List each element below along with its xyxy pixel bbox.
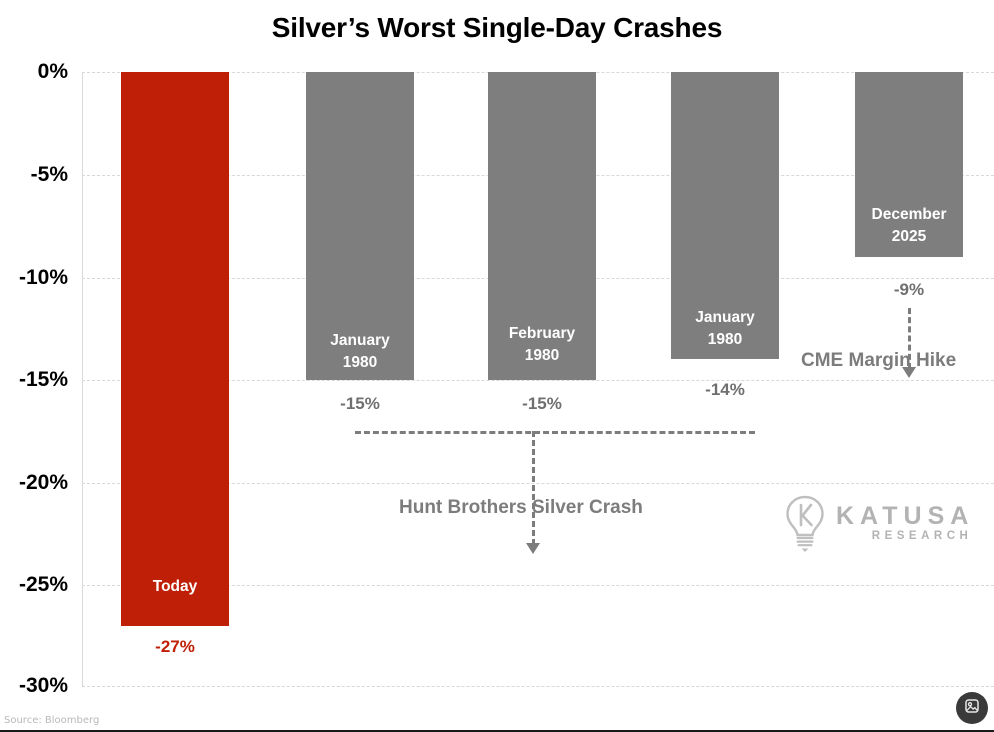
bar-label-february-1980-line2: 1980 [488,345,596,367]
y-axis-tick-6: -30% [0,674,68,698]
y-axis-tick-0: 0% [0,60,68,84]
katusa-research-logo: KATUSA RESEARCH [782,492,972,554]
y-axis-tick-4: -20% [0,471,68,495]
logo-wordmark: KATUSA [836,502,974,530]
bar-value-february-1980: -15% [488,394,596,414]
bar-label-december-2025-line2: 2025 [855,226,963,248]
bar-label-january-1980-a-line1: January [306,330,414,352]
bar-value-december-2025: -9% [855,280,963,300]
plot-area: Today -27% January 1980 -15% February 19… [82,72,994,686]
chart-page: Silver’s Worst Single-Day Crashes 0% -5%… [0,0,994,732]
hunt-brothers-bracket-line [355,431,755,434]
bar-label-february-1980-line1: February [488,323,596,345]
bar-value-january-1980-a: -15% [306,394,414,414]
bar-today[interactable]: Today [121,72,229,626]
source-note: Source: Bloomberg [4,715,99,726]
lightbulb-icon [782,494,828,552]
hunt-brothers-annotation: Hunt Brothers Silver Crash [399,497,643,519]
hunt-brothers-leader-line [532,431,535,545]
bar-label-today: Today [121,576,229,598]
bar-january-1980-a[interactable]: January 1980 [306,72,414,380]
bar-february-1980[interactable]: February 1980 [488,72,596,380]
image-badge-button[interactable] [956,692,988,724]
y-axis-tick-1: -5% [0,163,68,187]
y-axis-tick-3: -15% [0,368,68,392]
gridline-30 [82,686,994,687]
bar-label-december-2025-line1: December [855,204,963,226]
bar-label-january-1980-b-line2: 1980 [671,329,779,351]
hunt-brothers-arrow-icon [526,543,540,554]
bar-value-january-1980-b: -14% [671,380,779,400]
cme-margin-hike-annotation: CME Margin Hike [801,350,956,372]
bar-label-january-1980-b-line1: January [671,307,779,329]
y-axis-line [82,72,83,686]
image-icon [963,697,981,720]
bar-december-2025[interactable]: December 2025 [855,72,963,257]
logo-tagline: RESEARCH [836,529,974,543]
bar-value-today: -27% [121,637,229,657]
y-axis-tick-2: -10% [0,266,68,290]
bar-label-january-1980-a-line2: 1980 [306,352,414,374]
page-title: Silver’s Worst Single-Day Crashes [0,12,994,44]
y-axis-tick-5: -25% [0,573,68,597]
bar-january-1980-b[interactable]: January 1980 [671,72,779,359]
